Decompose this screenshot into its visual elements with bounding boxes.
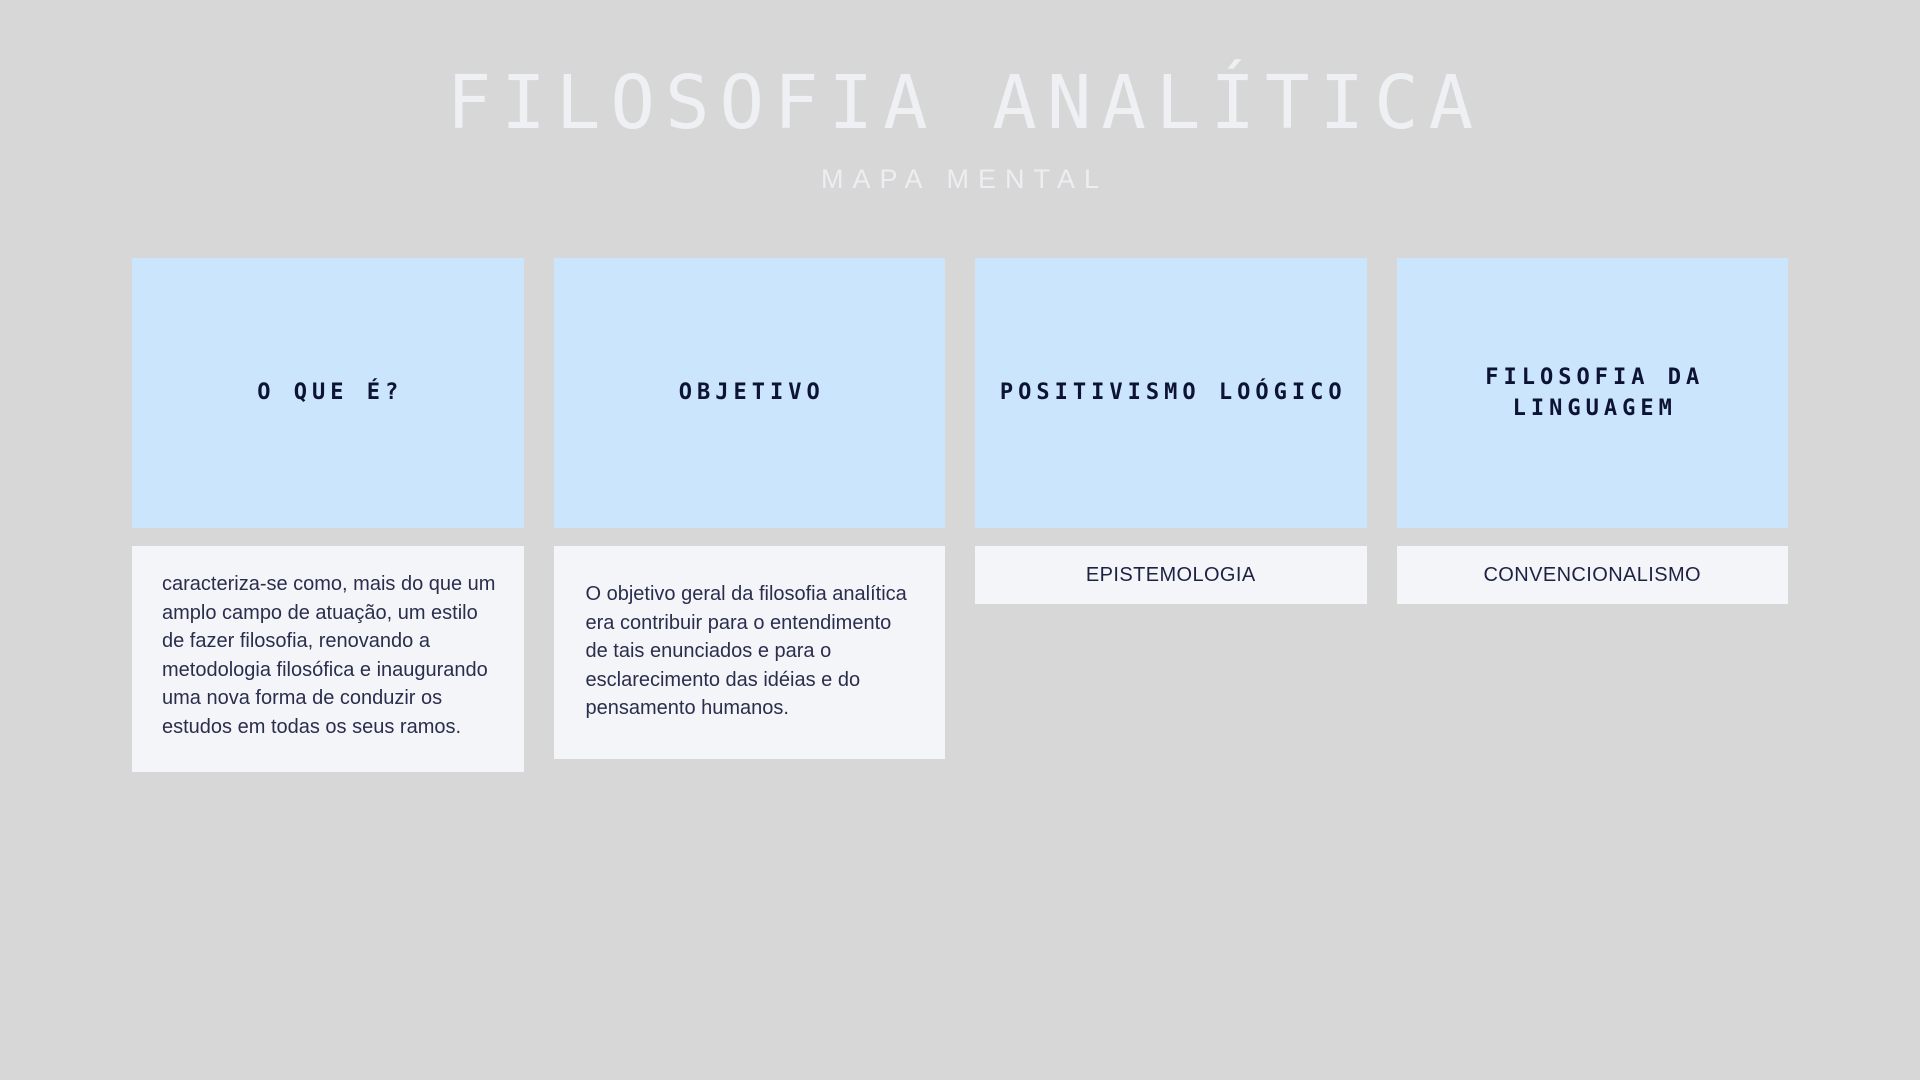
- page-title: FILOSOFIA ANALÍTICA: [0, 66, 1920, 140]
- detail-card-text: CONVENCIONALISMO: [1483, 561, 1701, 590]
- slide-header: FILOSOFIA ANALÍTICA MAPA MENTAL: [0, 66, 1920, 195]
- topic-card-positivismo-logico[interactable]: POSITIVISMO LOÓGICO: [975, 258, 1367, 528]
- topic-card-label: FILOSOFIA DA LINGUAGEM: [1411, 362, 1775, 424]
- mindmap-column-3: POSITIVISMO LOÓGICO EPISTEMOLOGIA: [975, 258, 1367, 604]
- page-subtitle: MAPA MENTAL: [0, 140, 1920, 195]
- mindmap-column-2: OBJETIVO O objetivo geral da filosofia a…: [554, 258, 946, 759]
- detail-card-text: O objetivo geral da filosofia analítica …: [586, 580, 918, 723]
- detail-card-objetivo[interactable]: O objetivo geral da filosofia analítica …: [554, 546, 946, 759]
- mindmap-column-4: FILOSOFIA DA LINGUAGEM CONVENCIONALISMO: [1397, 258, 1789, 604]
- topic-card-label: OBJETIVO: [674, 377, 825, 408]
- detail-card-text: EPISTEMOLOGIA: [1086, 561, 1256, 590]
- mindmap-column-1: O QUE É? caracteriza-se como, mais do qu…: [132, 258, 524, 772]
- topic-card-filosofia-da-linguagem[interactable]: FILOSOFIA DA LINGUAGEM: [1397, 258, 1789, 528]
- detail-card-epistemologia[interactable]: EPISTEMOLOGIA: [975, 546, 1367, 604]
- detail-card-convencionalismo[interactable]: CONVENCIONALISMO: [1397, 546, 1789, 604]
- detail-card-o-que-e[interactable]: caracteriza-se como, mais do que um ampl…: [132, 546, 524, 772]
- topic-card-label: O QUE É?: [252, 377, 403, 408]
- detail-card-text: caracteriza-se como, mais do que um ampl…: [162, 570, 498, 742]
- slide-canvas: FILOSOFIA ANALÍTICA MAPA MENTAL O QUE É?…: [0, 0, 1920, 1080]
- mindmap-columns: O QUE É? caracteriza-se como, mais do qu…: [132, 258, 1788, 772]
- topic-card-objetivo[interactable]: OBJETIVO: [554, 258, 946, 528]
- topic-card-o-que-e[interactable]: O QUE É?: [132, 258, 524, 528]
- topic-card-label: POSITIVISMO LOÓGICO: [995, 377, 1347, 408]
